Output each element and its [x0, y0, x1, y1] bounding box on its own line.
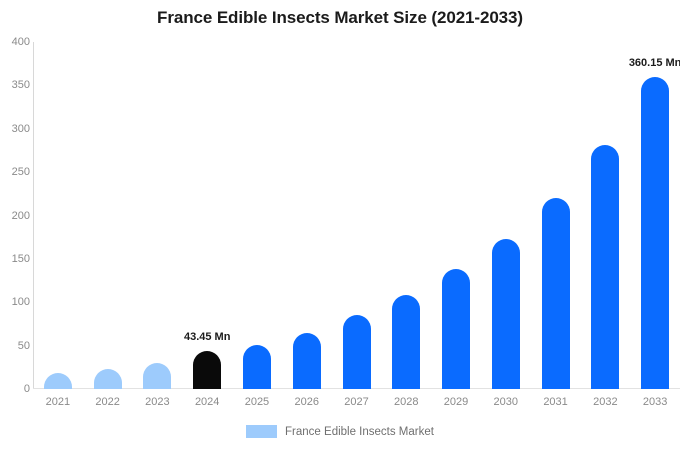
chart-container: France Edible Insects Market Size (2021-… [0, 0, 680, 450]
y-tick-label: 0 [2, 383, 30, 395]
x-tick-label-2029: 2029 [433, 396, 479, 408]
legend-label-france-edible-insects-market: France Edible Insects Market [285, 426, 434, 438]
x-tick-label-2028: 2028 [383, 396, 429, 408]
y-tick-label: 350 [2, 79, 30, 91]
x-tick-label-2021: 2021 [35, 396, 81, 408]
x-tick-label-2024: 2024 [184, 396, 230, 408]
bar-2025[interactable] [243, 345, 271, 389]
x-tick-label-2026: 2026 [284, 396, 330, 408]
x-tick-label-2023: 2023 [134, 396, 180, 408]
bar-2031[interactable] [542, 198, 570, 389]
bar-value-label-2024: 43.45 Mn [167, 331, 247, 343]
chart-title: France Edible Insects Market Size (2021-… [0, 8, 680, 28]
y-tick-label: 200 [2, 210, 30, 222]
legend-swatch-france-edible-insects-market [246, 425, 277, 438]
x-tick-label-2032: 2032 [582, 396, 628, 408]
bar-2024[interactable] [193, 351, 221, 389]
x-tick-label-2033: 2033 [632, 396, 678, 408]
bar-2030[interactable] [492, 239, 520, 389]
y-tick-label: 100 [2, 296, 30, 308]
bar-2027[interactable] [343, 315, 371, 389]
bar-2029[interactable] [442, 269, 470, 389]
bar-2028[interactable] [392, 295, 420, 389]
x-tick-label-2022: 2022 [85, 396, 131, 408]
bar-2021[interactable] [44, 373, 72, 389]
bar-2023[interactable] [143, 363, 171, 389]
y-tick-label: 400 [2, 36, 30, 48]
x-tick-label-2027: 2027 [334, 396, 380, 408]
y-tick-label: 150 [2, 253, 30, 265]
chart-legend: France Edible Insects Market [0, 425, 680, 438]
y-tick-label: 50 [2, 340, 30, 352]
y-tick-label: 300 [2, 123, 30, 135]
y-tick-label: 250 [2, 166, 30, 178]
bar-2032[interactable] [591, 145, 619, 389]
y-axis-tick-labels: 050100150200250300350400 [0, 0, 30, 450]
bar-value-label-2033: 360.15 Mn [615, 57, 680, 69]
x-tick-label-2030: 2030 [483, 396, 529, 408]
x-tick-label-2031: 2031 [533, 396, 579, 408]
bar-2022[interactable] [94, 369, 122, 389]
bar-2033[interactable] [641, 77, 669, 389]
bar-2026[interactable] [293, 333, 321, 389]
x-tick-label-2025: 2025 [234, 396, 280, 408]
plot-area [33, 42, 680, 389]
